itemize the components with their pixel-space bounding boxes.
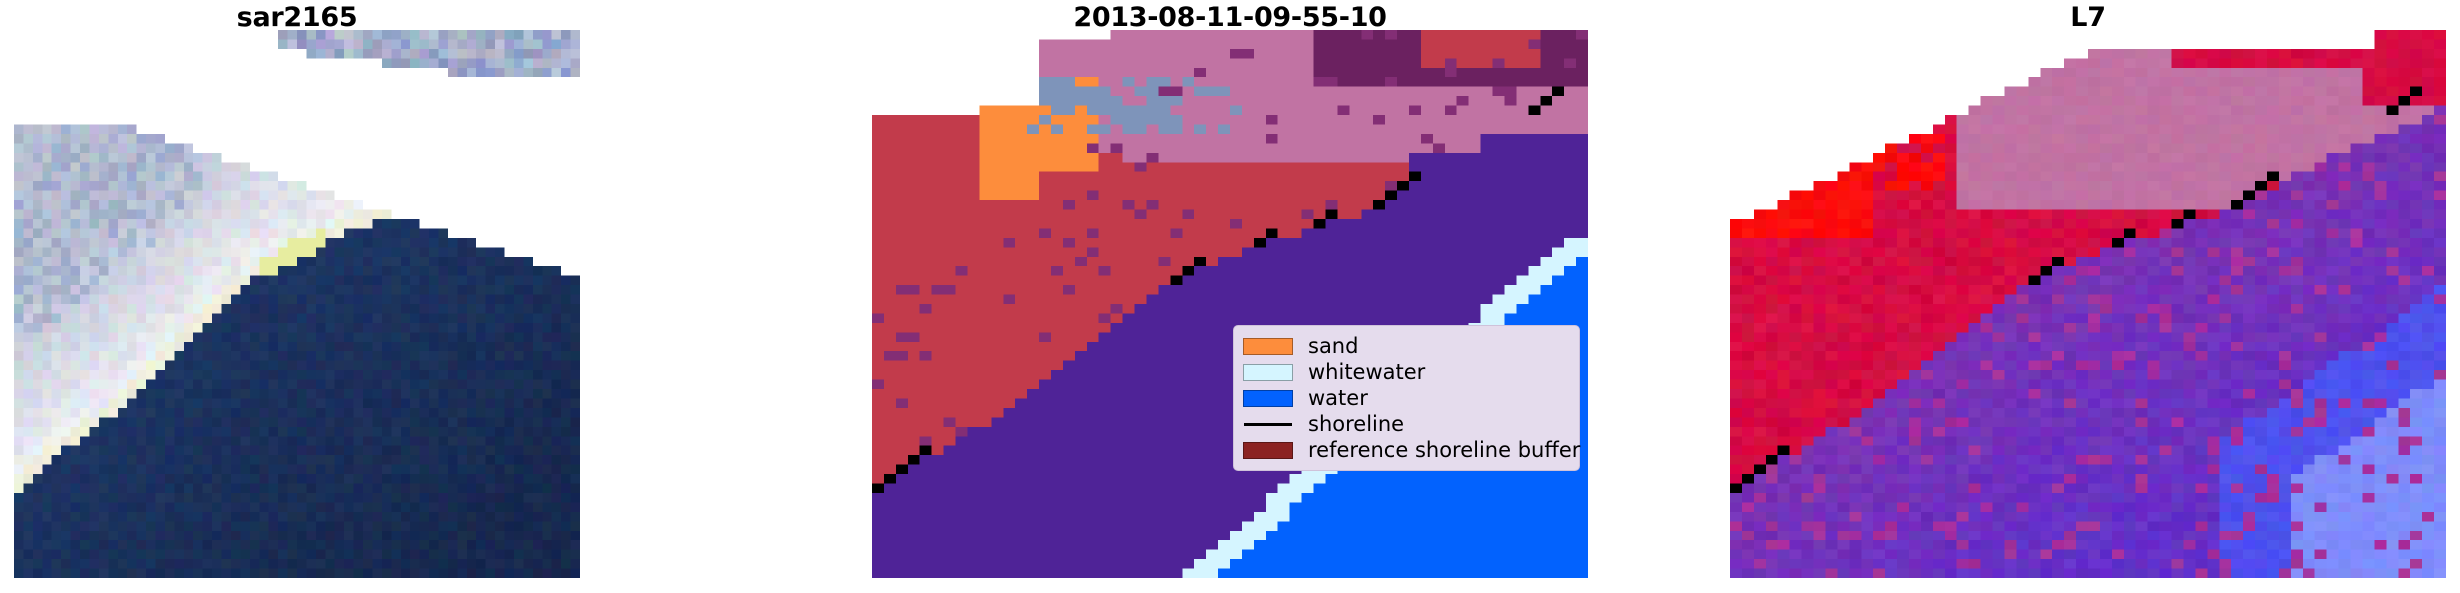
legend-label-whitewater: whitewater <box>1308 362 1425 383</box>
legend: sand whitewater water shoreline referenc… <box>1233 325 1580 471</box>
panel-classified: 2013-08-11-09-55-10 <box>872 0 1588 593</box>
legend-label-shoreline: shoreline <box>1308 414 1404 435</box>
legend-row: reference shoreline buffer <box>1243 437 1570 463</box>
legend-swatch-whitewater <box>1243 364 1293 381</box>
legend-label-sand: sand <box>1308 336 1358 357</box>
legend-label-reference-shoreline-buffer: reference shoreline buffer <box>1308 440 1580 461</box>
legend-swatch-water <box>1243 390 1293 407</box>
legend-row: whitewater <box>1243 359 1570 385</box>
panel-l7: L7 <box>1730 0 2446 593</box>
legend-row: shoreline <box>1243 411 1570 437</box>
legend-swatch-sand <box>1243 338 1293 355</box>
panel-sar2165: sar2165 <box>14 0 580 593</box>
panel-title-sar2165: sar2165 <box>14 2 580 33</box>
raster-classified <box>872 30 1588 578</box>
legend-label-water: water <box>1308 388 1368 409</box>
panel-title-classified: 2013-08-11-09-55-10 <box>872 2 1588 33</box>
figure-root: sar2165 2013-08-11-09-55-10 L7 sand whit… <box>0 0 2460 593</box>
legend-line-shoreline <box>1243 416 1293 433</box>
legend-swatch-reference-shoreline-buffer <box>1243 442 1293 459</box>
raster-sar2165 <box>14 30 580 578</box>
legend-row: sand <box>1243 333 1570 359</box>
raster-l7 <box>1730 30 2446 578</box>
panel-title-l7: L7 <box>1730 2 2446 33</box>
legend-row: water <box>1243 385 1570 411</box>
